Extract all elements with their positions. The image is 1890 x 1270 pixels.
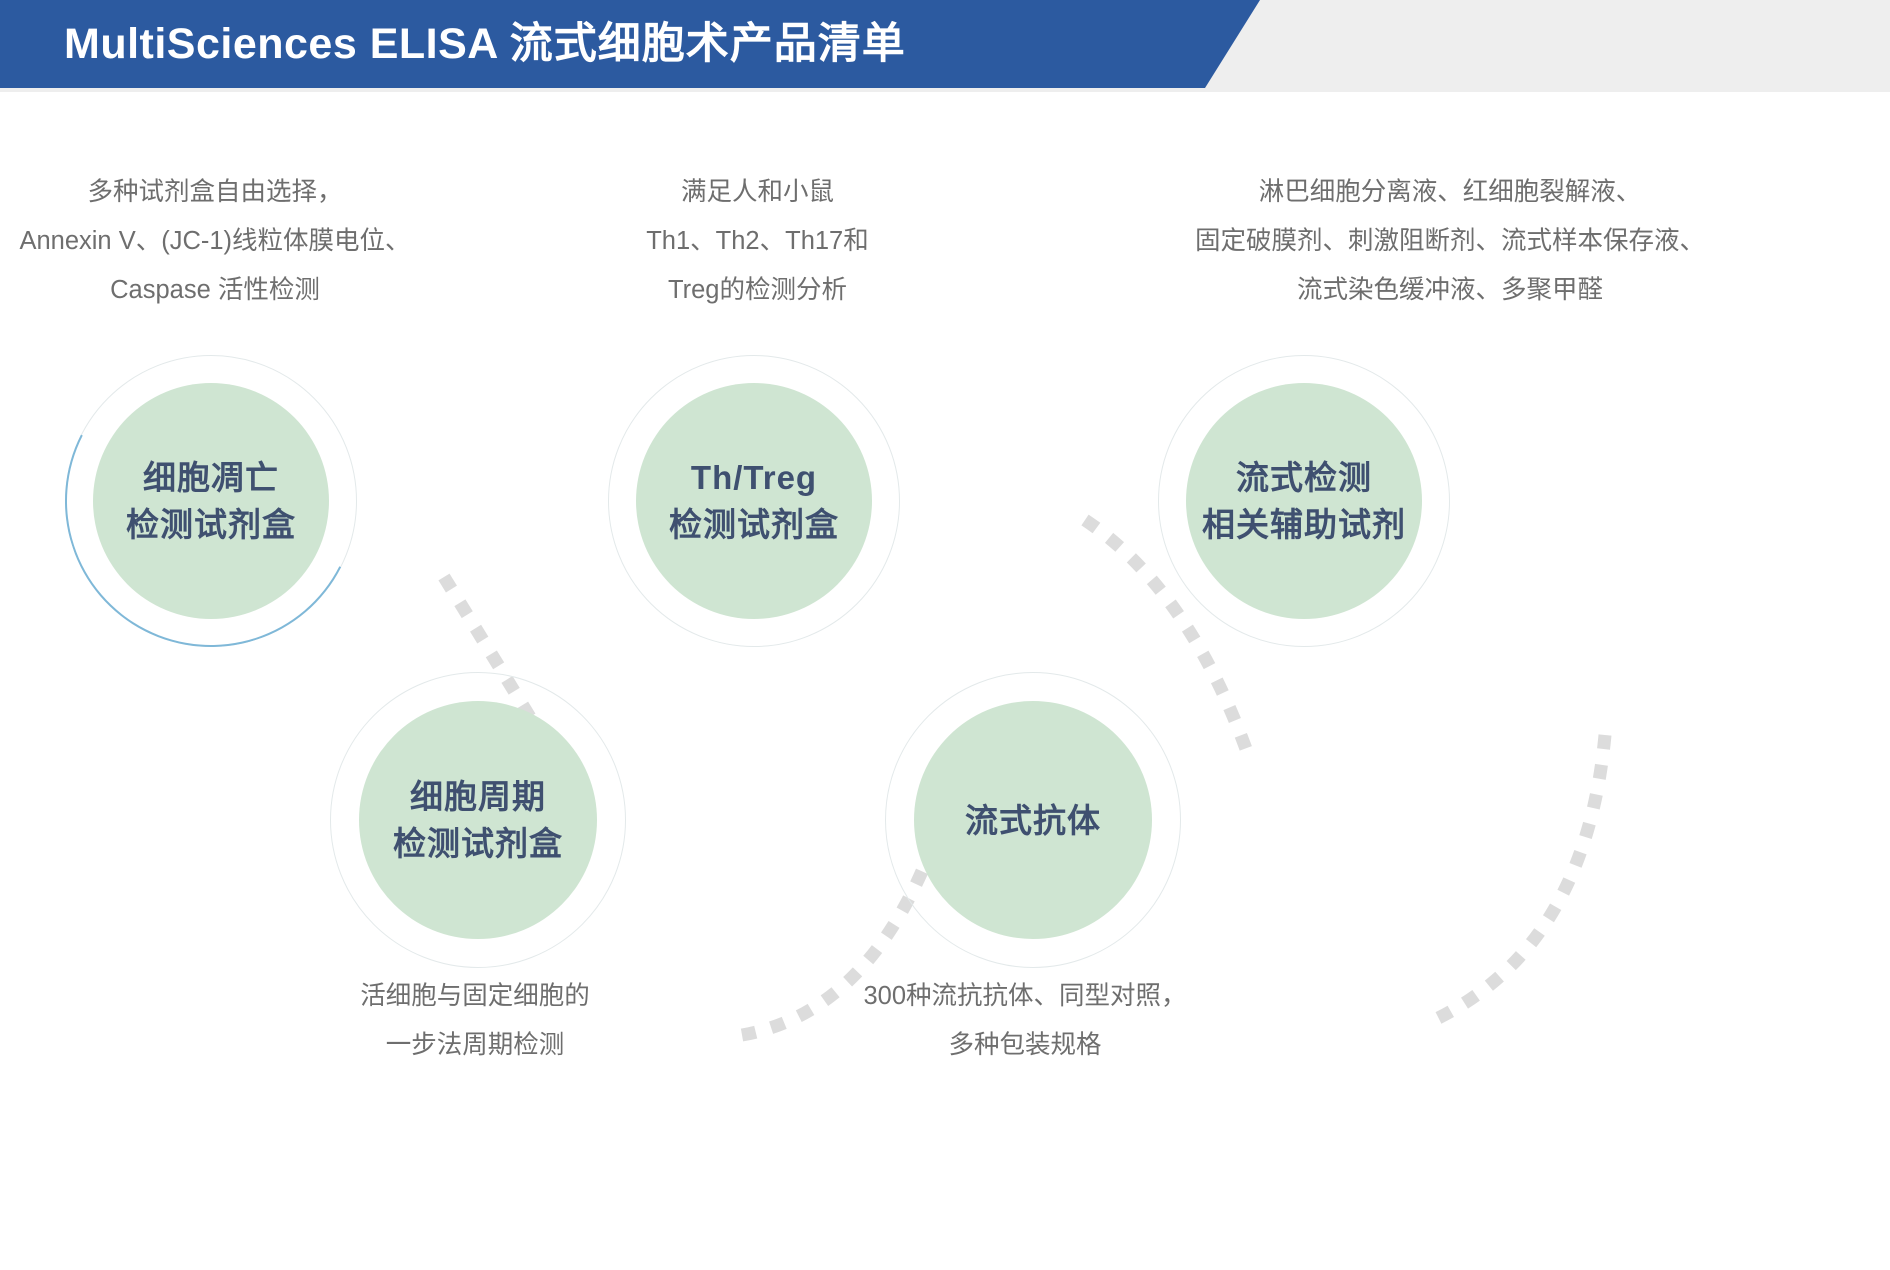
- page-title: MultiSciences ELISA 流式细胞术产品清单: [64, 16, 906, 72]
- node-thtreg-label: Th/Treg检测试剂盒: [669, 454, 839, 548]
- caption-thtreg: 满足人和小鼠Th1、Th2、Th17和Treg的检测分析: [585, 168, 930, 315]
- node-aux-disc[interactable]: 流式检测相关辅助试剂: [1186, 383, 1422, 619]
- caption-apoptosis: 多种试剂盒自由选择，Annexin V、(JC-1)线粒体膜电位、Caspase…: [0, 168, 430, 315]
- node-thtreg[interactable]: Th/Treg检测试剂盒: [608, 355, 900, 647]
- caption-cellcycle: 活细胞与固定细胞的一步法周期检测: [290, 972, 660, 1070]
- caption-antibody: 300种流抗抗体、同型对照，多种包装规格: [805, 972, 1245, 1070]
- page-title-cn: 流式细胞术产品清单: [510, 20, 906, 68]
- page-title-en: MultiSciences ELISA: [64, 20, 497, 68]
- connector-aux-to-antibody: [1430, 735, 1605, 1022]
- node-antibody-disc[interactable]: 流式抗体: [914, 701, 1152, 939]
- node-cellcycle-disc[interactable]: 细胞周期检测试剂盒: [359, 701, 597, 939]
- caption-aux: 淋巴细胞分离液、红细胞裂解液、固定破膜剂、刺激阻断剂、流式样本保存液、流式染色缓…: [1015, 168, 1885, 315]
- node-apoptosis[interactable]: 细胞凋亡检测试剂盒: [65, 355, 357, 647]
- node-antibody-label: 流式抗体: [965, 797, 1101, 844]
- node-apoptosis-disc[interactable]: 细胞凋亡检测试剂盒: [93, 383, 329, 619]
- node-thtreg-disc[interactable]: Th/Treg检测试剂盒: [636, 383, 872, 619]
- node-apoptosis-label: 细胞凋亡检测试剂盒: [126, 454, 296, 548]
- node-antibody[interactable]: 流式抗体: [885, 672, 1181, 968]
- node-cellcycle-label: 细胞周期检测试剂盒: [393, 773, 563, 867]
- node-aux[interactable]: 流式检测相关辅助试剂: [1158, 355, 1450, 647]
- node-aux-label: 流式检测相关辅助试剂: [1202, 454, 1406, 548]
- node-cellcycle[interactable]: 细胞周期检测试剂盒: [330, 672, 626, 968]
